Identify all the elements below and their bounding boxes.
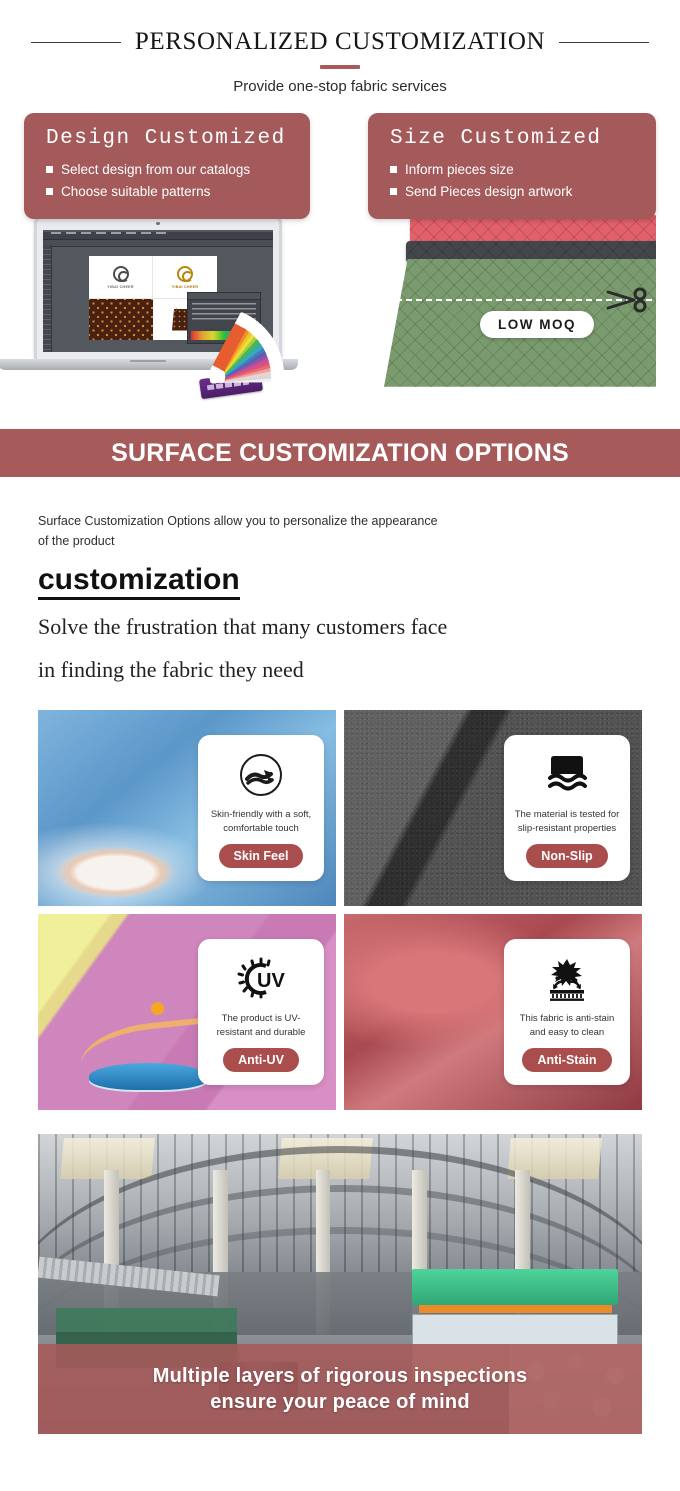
non-slip-description: The material is tested for slip-resistan… — [514, 808, 620, 835]
feature-tile-anti-uv[interactable]: UV The product is UV-resistant and durab… — [38, 914, 336, 1110]
square-bullet-icon — [390, 166, 397, 173]
size-customized-bullets: Inform pieces size Send Pieces design ar… — [390, 159, 638, 203]
blue-fabric-swatch — [89, 1063, 208, 1090]
brand-logo-icon — [177, 266, 193, 282]
feature-tile-non-slip[interactable]: The material is tested for slip-resistan… — [344, 710, 642, 906]
anti-uv-icon: UV — [208, 953, 314, 1005]
bullet-label: Inform pieces size — [405, 159, 514, 181]
non-slip-pill: Non-Slip — [526, 844, 607, 868]
intro-section: Surface Customization Options allow you … — [0, 477, 680, 686]
feature-tile-anti-stain[interactable]: This fabric is anti-stain and easy to cl… — [344, 914, 642, 1110]
bullet-label: Send Pieces design artwork — [405, 181, 572, 203]
square-bullet-icon — [46, 166, 53, 173]
orange-rail — [419, 1305, 612, 1313]
page-subtitle: Provide one-stop fabric services — [0, 78, 680, 95]
header-accent-dash — [320, 65, 360, 69]
header-title-row: PERSONALIZED CUSTOMIZATION — [0, 28, 680, 56]
low-moq-badge: LOW MOQ — [480, 311, 594, 338]
brand-logo-label: YIBAI CHEER — [107, 285, 133, 289]
anti-stain-icon — [514, 953, 620, 1005]
intro-headline-line-1: Solve the frustration that many customer… — [38, 610, 640, 643]
design-app-toolbar — [43, 245, 52, 352]
intro-headline-line-2: in finding the fabric they need — [38, 653, 640, 686]
size-customized-title: Size Customized — [390, 127, 638, 150]
anti-stain-description: This fabric is anti-stain and easy to cl… — [514, 1012, 620, 1039]
factory-banner-line-1: Multiple layers of rigorous inspections — [153, 1365, 528, 1388]
panel-titlebar — [188, 293, 260, 300]
factory-banner-line-2: ensure your peace of mind — [210, 1391, 470, 1414]
square-bullet-icon — [390, 188, 397, 195]
non-slip-icon — [514, 749, 620, 801]
design-app-optionsbar — [43, 240, 273, 247]
logo-preview-mono: YIBAI CHEER — [89, 256, 153, 300]
design-customized-image: YIBAI CHEER YIBAI CHEER — [24, 209, 310, 409]
intro-keyword: customization — [38, 563, 240, 601]
skin-feel-description: Skin-friendly with a soft, comfortable t… — [208, 808, 314, 835]
factory-banner: Multiple layers of rigorous inspections … — [38, 1344, 642, 1434]
anti-uv-info-card: UV The product is UV-resistant and durab… — [198, 939, 324, 1085]
feature-grid: Skin-friendly with a soft, comfortable t… — [0, 686, 680, 1110]
header-divider-left — [31, 42, 121, 43]
anti-uv-pill: Anti-UV — [223, 1048, 299, 1072]
feature-tile-skin-feel[interactable]: Skin-friendly with a soft, comfortable t… — [38, 710, 336, 906]
sun-dot-icon — [151, 1002, 164, 1015]
scissors-icon — [604, 287, 650, 313]
pattern-swatch-preview — [89, 299, 153, 339]
intro-description: Surface Customization Options allow you … — [38, 511, 438, 552]
page-title: PERSONALIZED CUSTOMIZATION — [135, 28, 545, 56]
surface-options-banner: SURFACE CUSTOMIZATION OPTIONS — [0, 429, 680, 477]
anti-uv-description: The product is UV-resistant and durable — [208, 1012, 314, 1039]
size-customized-card[interactable]: Size Customized Inform pieces size Send … — [368, 113, 656, 219]
svg-text:UV: UV — [257, 970, 285, 992]
anti-stain-pill: Anti-Stain — [522, 1048, 611, 1072]
design-customized-column: Design Customized Select design from our… — [24, 113, 310, 409]
design-customized-bullets: Select design from our catalogs Choose s… — [46, 159, 292, 203]
list-item: Select design from our catalogs — [46, 159, 292, 181]
size-customized-image: LOW MOQ — [368, 207, 656, 405]
anti-stain-info-card: This fabric is anti-stain and easy to cl… — [504, 939, 630, 1085]
factory-section: Multiple layers of rigorous inspections … — [38, 1134, 642, 1434]
page-header: PERSONALIZED CUSTOMIZATION Provide one-s… — [0, 0, 680, 95]
skin-feel-pill: Skin Feel — [219, 844, 304, 868]
design-app-menubar — [43, 232, 273, 240]
bullet-label: Select design from our catalogs — [61, 159, 250, 181]
skin-feel-info-card: Skin-friendly with a soft, comfortable t… — [198, 735, 324, 881]
list-item: Choose suitable patterns — [46, 181, 292, 203]
bullet-label: Choose suitable patterns — [61, 181, 210, 203]
brand-logo-label: YIBAI CHEER — [172, 285, 198, 289]
skin-feel-icon — [208, 749, 314, 801]
webcam-icon — [156, 222, 160, 226]
size-customized-column: Size Customized Inform pieces size Send … — [368, 113, 656, 405]
square-bullet-icon — [46, 188, 53, 195]
list-item: Send Pieces design artwork — [390, 181, 638, 203]
surface-options-banner-text: SURFACE CUSTOMIZATION OPTIONS — [111, 439, 569, 468]
list-item: Inform pieces size — [390, 159, 638, 181]
non-slip-info-card: The material is tested for slip-resistan… — [504, 735, 630, 881]
customization-section: Design Customized Select design from our… — [0, 113, 680, 423]
design-customized-card[interactable]: Design Customized Select design from our… — [24, 113, 310, 219]
green-production-line — [412, 1269, 617, 1305]
pantone-fan-deck — [200, 301, 350, 397]
design-customized-title: Design Customized — [46, 127, 292, 150]
brand-logo-icon — [113, 266, 129, 282]
header-divider-right — [559, 42, 649, 43]
